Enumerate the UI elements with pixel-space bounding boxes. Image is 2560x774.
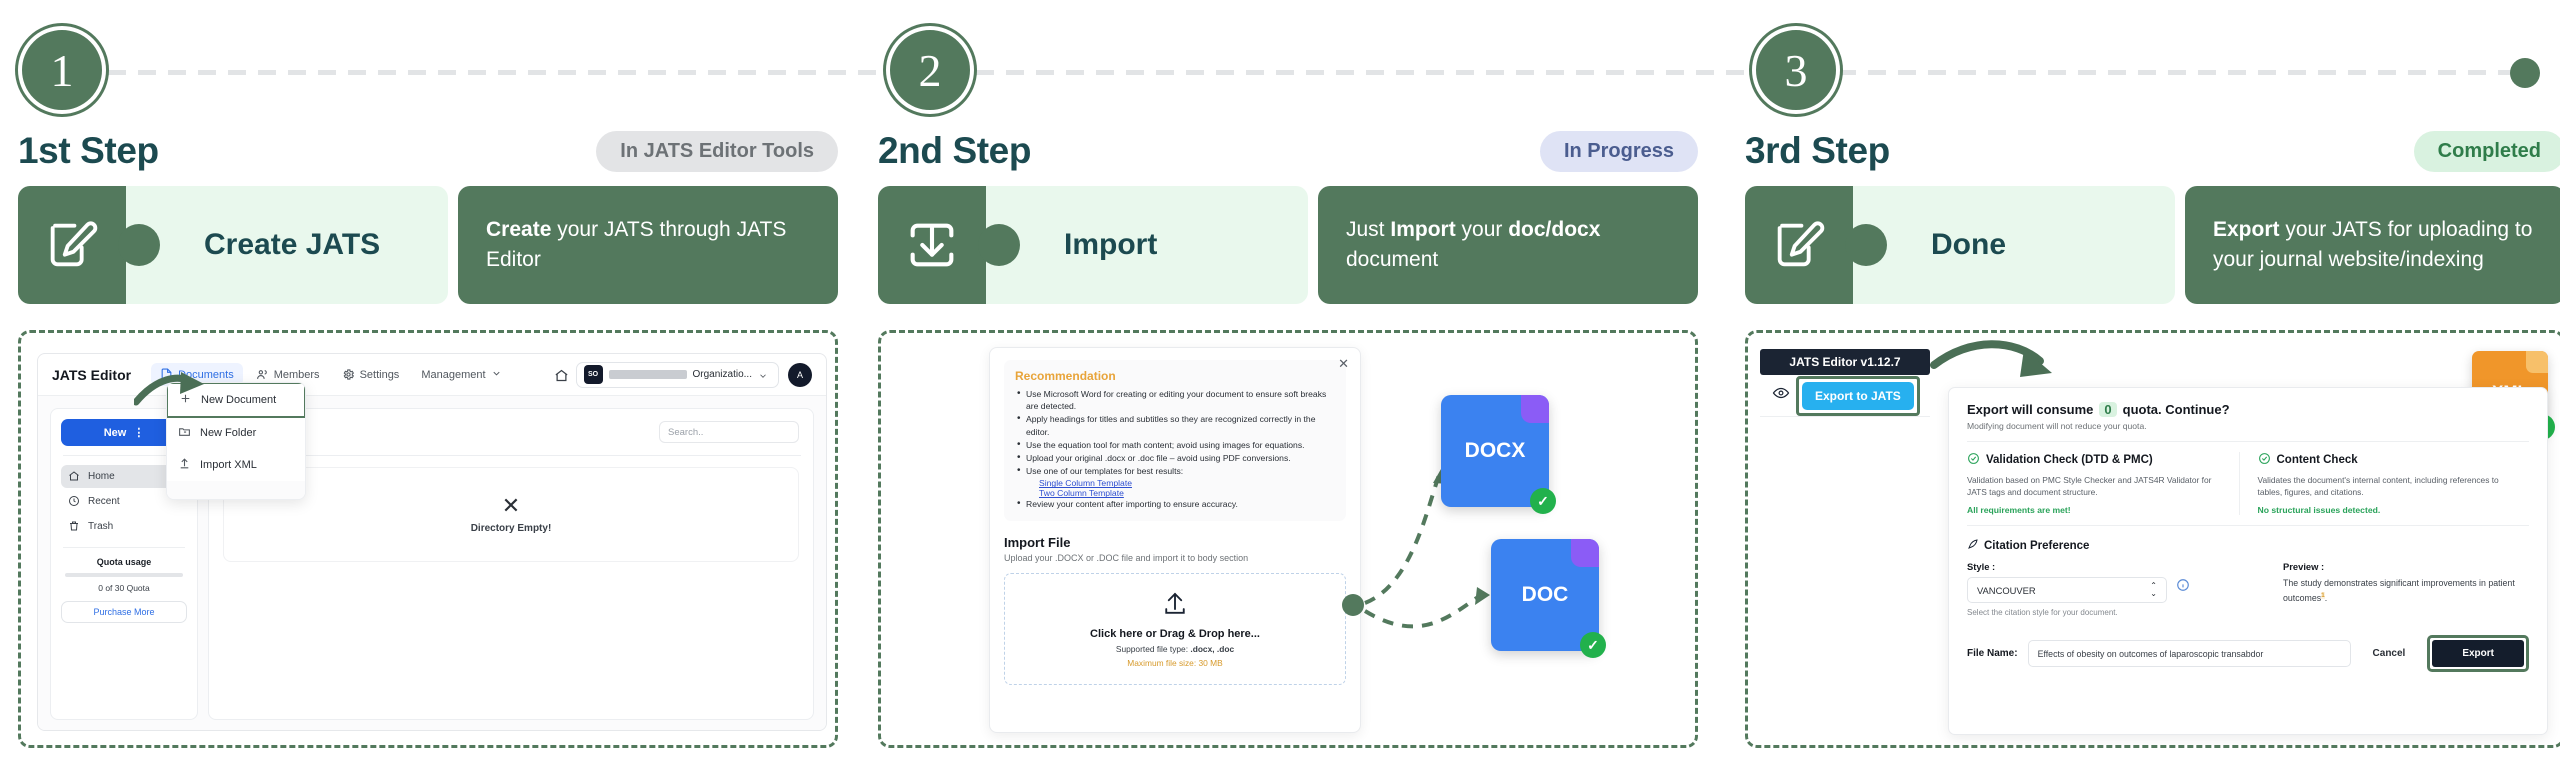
page-title-2: 2nd Step	[878, 130, 1031, 172]
citation-preference-header: Citation Preference	[1967, 538, 2529, 553]
doc-file-icon: DOC ✓	[1491, 539, 1599, 651]
people-icon	[256, 368, 269, 381]
screenshot-frame-2: ✕ Recommendation Use Microsoft Word for …	[878, 330, 1698, 748]
puzzle-desc-rest-2: document	[1346, 248, 1438, 271]
step-header-3: 3rd Step Completed	[1745, 128, 2560, 174]
org-name: Organizatio...	[693, 369, 752, 380]
quota-title: Quota usage	[61, 557, 187, 567]
puzzle-bar-2: Import Just Import your doc/docx documen…	[878, 186, 1698, 304]
menu-item-new-folder-label: New Folder	[200, 427, 256, 439]
two-column-template-link[interactable]: Two Column Template	[1039, 488, 1335, 498]
gear-icon	[342, 368, 355, 381]
style-hint: Select the citation style for your docum…	[1967, 608, 2267, 617]
chevron-down-icon	[758, 368, 771, 381]
dialog-divider-2	[1967, 525, 2529, 526]
dialog-title: Export will consume 0 quota. Continue?	[1967, 402, 2529, 417]
puzzle-label-1: Create JATS	[204, 228, 380, 262]
kebab-icon: ⋮	[133, 426, 144, 439]
trash-icon	[68, 520, 81, 533]
app-body: New ⋮ Home Recent Trash	[38, 396, 826, 731]
check-circle-icon	[1967, 452, 1980, 468]
avatar[interactable]: A	[788, 363, 812, 387]
validation-check-status: All requirements are met!	[1967, 505, 2223, 515]
folder-plus-icon	[178, 425, 191, 441]
export-toolbar: Export to JATS	[1760, 375, 1930, 417]
dialog-title-a: Export will consume	[1967, 402, 2093, 417]
import-file-subtitle: Upload your .DOCX or .DOC file and impor…	[1004, 553, 1346, 563]
style-column: Style : VANCOUVER ⌃⌄ Select the citation…	[1967, 561, 2267, 617]
main-divider	[221, 455, 801, 456]
puzzle-desc-bold-3: Export	[2213, 218, 2280, 241]
puzzle-desc-bold-1: Create	[486, 218, 551, 241]
drop-zone-supported-label: Supported file type:	[1116, 644, 1191, 654]
list-item: Upload your original .docx or .doc file …	[1015, 452, 1335, 464]
info-icon[interactable]	[2176, 578, 2190, 597]
recommendation-list-end: Review your content after importing to e…	[1015, 498, 1335, 510]
drop-zone-title: Click here or Drag & Drop here...	[1090, 628, 1260, 640]
drop-zone-types: .docx, .doc	[1190, 644, 1234, 654]
file-name-input[interactable]: Effects of obesity on outcomes of laparo…	[2028, 640, 2351, 667]
dialog-title-b: quota. Continue?	[2123, 402, 2230, 417]
tab-management[interactable]: Management	[412, 363, 512, 386]
step-header-2: 2nd Step In Progress	[878, 128, 1698, 174]
menu-item-new-document-label: New Document	[201, 394, 276, 406]
check-circle-icon: ✓	[1580, 632, 1606, 658]
puzzle-desc-bold2-2: doc/docx	[1508, 218, 1600, 241]
document-edit-icon	[1745, 186, 1853, 304]
export-button-highlight: Export	[2427, 635, 2529, 672]
step-column-3: 3rd Step Completed Done Export your JATS…	[1745, 0, 2560, 774]
list-item: Apply headings for titles and subtitles …	[1015, 413, 1335, 437]
recommendation-box: Recommendation Use Microsoft Word for cr…	[1004, 360, 1346, 521]
menu-footer	[167, 481, 305, 499]
org-name-redacted	[609, 370, 687, 379]
puzzle-bar-3: Done Export your JATS for uploading to y…	[1745, 186, 2560, 304]
file-corner-fold	[2526, 351, 2548, 373]
puzzle-knob-3	[1845, 224, 1887, 266]
step-column-2: 2nd Step In Progress Import Just Import …	[878, 0, 1698, 774]
preview-column: Preview : The study demonstrates signifi…	[2267, 561, 2529, 617]
check-circle-icon: ✓	[1530, 488, 1556, 514]
puzzle-left-3: Done	[1745, 186, 2175, 304]
step-header-1: 1st Step In JATS Editor Tools	[18, 128, 838, 174]
menu-item-new-folder[interactable]: New Folder	[167, 417, 305, 449]
menu-item-import-xml-label: Import XML	[200, 459, 257, 471]
import-file-title: Import File	[1004, 535, 1346, 550]
puzzle-knob-2	[978, 224, 1020, 266]
validation-check-title: Validation Check (DTD & PMC)	[1986, 454, 2153, 466]
puzzle-knob-1	[118, 224, 160, 266]
step-column-1: 1st Step In JATS Editor Tools Create JAT…	[18, 0, 838, 774]
page-title-3: 3rd Step	[1745, 130, 1890, 172]
export-to-jats-button[interactable]: Export to JATS	[1802, 382, 1914, 410]
quill-icon	[1967, 538, 1979, 553]
single-column-template-link[interactable]: Single Column Template	[1039, 478, 1335, 488]
organization-selector[interactable]: SO Organizatio...	[576, 362, 779, 388]
menu-item-import-xml[interactable]: Import XML	[167, 449, 305, 481]
screenshot-frame-3: JATS Editor v1.12.7 Export to JATS XML ✓…	[1745, 330, 2560, 748]
citation-preference-body: Style : VANCOUVER ⌃⌄ Select the citation…	[1967, 561, 2529, 617]
file-corner-fold	[1521, 395, 1549, 423]
sidebar-divider-2	[63, 547, 185, 548]
import-download-icon	[878, 186, 986, 304]
dialog-footer: File Name: Effects of obesity on outcome…	[1967, 635, 2529, 672]
puzzle-desc-mid-2: your	[1456, 218, 1509, 241]
upload-arrow-icon	[1160, 589, 1190, 624]
citation-preference-title: Citation Preference	[1984, 540, 2089, 552]
recommendation-list: Use Microsoft Word for creating or editi…	[1015, 388, 1335, 477]
file-corner-fold	[1571, 539, 1599, 567]
tab-members-label: Members	[274, 369, 320, 381]
puzzle-left-2: Import	[878, 186, 1308, 304]
puzzle-label-2: Import	[1064, 228, 1157, 262]
jats-editor-app: JATS Editor Documents Members Settings M…	[37, 353, 827, 731]
home-icon[interactable]	[554, 368, 567, 381]
chevron-updown-icon: ⌃⌄	[2150, 582, 2157, 598]
check-circle-icon	[2258, 452, 2271, 468]
puzzle-desc-2: Just Import your doc/docx document	[1318, 186, 1698, 304]
screenshot-frame-1: JATS Editor Documents Members Settings M…	[18, 330, 838, 748]
docx-label: DOCX	[1465, 439, 1526, 463]
drop-zone-max-size: Maximum file size: 30 MB	[1127, 658, 1222, 668]
status-badge-3: Completed	[2414, 131, 2560, 172]
clock-icon	[68, 495, 81, 508]
new-button-label: New	[104, 427, 127, 439]
puzzle-desc-1: Create your JATS through JATS Editor	[458, 186, 838, 304]
export-dialog: Export will consume 0 quota. Continue? M…	[1948, 387, 2548, 735]
document-edit-icon	[18, 186, 126, 304]
app-brand: JATS Editor	[52, 367, 131, 383]
close-icon[interactable]: ✕	[1338, 356, 1349, 372]
sidebar-item-home-label: Home	[88, 471, 115, 482]
list-item: Review your content after importing to e…	[1015, 498, 1335, 510]
doc-label: DOC	[1522, 583, 1569, 607]
tab-settings[interactable]: Settings	[333, 363, 409, 386]
version-bar: JATS Editor v1.12.7	[1760, 349, 1930, 375]
sidebar-item-trash[interactable]: Trash	[61, 515, 187, 538]
topbar-right: SO Organizatio... A	[554, 362, 812, 388]
preview-text: The study demonstrates significant impro…	[2283, 578, 2515, 602]
empty-state-label: Directory Empty!	[471, 523, 552, 534]
eye-icon[interactable]	[1772, 384, 1790, 407]
puzzle-desc-3: Export your JATS for uploading to your j…	[2185, 186, 2560, 304]
dialog-subtitle: Modifying document will not reduce your …	[1967, 421, 2529, 431]
checks-row: Validation Check (DTD & PMC) Validation …	[1967, 452, 2529, 515]
import-panel: ✕ Recommendation Use Microsoft Word for …	[989, 347, 1361, 733]
org-initials: SO	[584, 365, 603, 384]
file-drop-zone[interactable]: Click here or Drag & Drop here... Suppor…	[1004, 573, 1346, 685]
list-item: Use Microsoft Word for creating or editi…	[1015, 388, 1335, 412]
content-check: Content Check Validates the document's i…	[2239, 452, 2530, 515]
validation-check: Validation Check (DTD & PMC) Validation …	[1967, 452, 2239, 515]
sidebar-item-trash-label: Trash	[88, 521, 113, 532]
page-title-1: 1st Step	[18, 130, 159, 172]
puzzle-label-3: Done	[1931, 228, 2006, 262]
citation-style-select[interactable]: VANCOUVER ⌃⌄	[1967, 577, 2167, 603]
puzzle-left-1: Create JATS	[18, 186, 448, 304]
recommendation-title: Recommendation	[1015, 369, 1335, 383]
export-button[interactable]: Export	[2432, 640, 2524, 667]
preview-superscript: 1	[2321, 592, 2325, 599]
content-check-title: Content Check	[2277, 454, 2358, 466]
export-to-jats-highlight: Export to JATS	[1796, 376, 1920, 416]
purchase-more-button[interactable]: Purchase More	[61, 601, 187, 623]
content-check-desc: Validates the document's internal conten…	[2258, 474, 2514, 498]
file-name-label: File Name:	[1967, 648, 2018, 659]
cancel-button[interactable]: Cancel	[2361, 648, 2418, 659]
close-icon: ✕	[502, 495, 520, 517]
quota-count: 0	[2099, 402, 2116, 417]
puzzle-desc-pre-2: Just	[1346, 218, 1390, 241]
sidebar-item-recent-label: Recent	[88, 496, 120, 507]
tab-settings-label: Settings	[360, 369, 400, 381]
list-item: Use one of our templates for best result…	[1015, 465, 1335, 477]
puzzle-bar-1: Create JATS Create your JATS through JAT…	[18, 186, 838, 304]
tab-management-label: Management	[421, 369, 485, 381]
status-badge-2: In Progress	[1540, 131, 1698, 172]
status-badge-1: In JATS Editor Tools	[596, 131, 838, 172]
pointer-arrow-icon	[134, 372, 206, 414]
preview-label: Preview :	[2283, 561, 2529, 572]
empty-state: ✕ Directory Empty!	[223, 467, 799, 562]
search-input[interactable]: Search..	[659, 421, 799, 443]
upload-icon	[178, 457, 191, 473]
citation-style-value: VANCOUVER	[1977, 585, 2036, 596]
validation-check-desc: Validation based on PMC Style Checker an…	[1967, 474, 2223, 498]
docx-file-icon: DOCX ✓	[1441, 395, 1549, 507]
dialog-divider	[1967, 441, 2529, 442]
quota-value: 0 of 30 Quota	[61, 583, 187, 593]
puzzle-desc-bold-2: Import	[1390, 218, 1455, 241]
home-icon	[68, 470, 81, 483]
chevron-down-icon	[491, 368, 504, 381]
content-check-status: No structural issues detected.	[2258, 505, 2514, 515]
style-label: Style :	[1967, 561, 2267, 572]
list-item: Use the equation tool for math content; …	[1015, 439, 1335, 451]
quota-progress	[65, 573, 183, 577]
